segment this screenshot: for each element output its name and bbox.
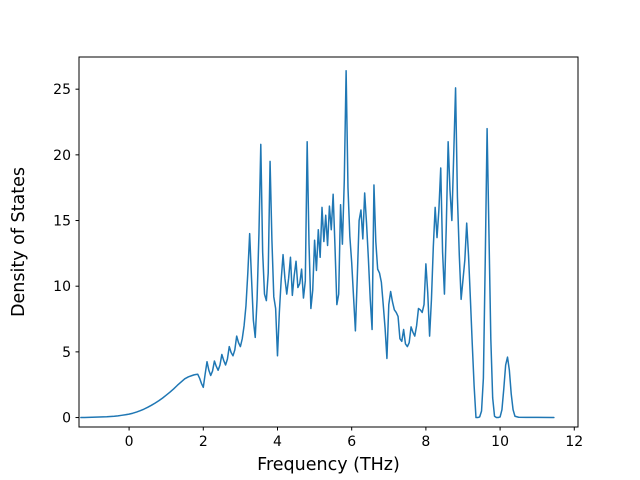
y-tick-label: 20 <box>53 148 71 164</box>
axes-background <box>79 57 578 427</box>
x-tick-label: 6 <box>347 434 356 450</box>
x-tick-label: 10 <box>491 434 509 450</box>
dos-plot: 024681012 0510152025 Frequency (THz) Den… <box>0 0 640 480</box>
y-tick-label: 0 <box>62 411 71 427</box>
y-tick-label: 10 <box>53 279 71 295</box>
matplotlib-figure: 024681012 0510152025 Frequency (THz) Den… <box>0 0 640 480</box>
x-axis-label: Frequency (THz) <box>257 455 400 475</box>
x-tick-label: 12 <box>565 434 583 450</box>
y-tick-label: 25 <box>53 82 71 98</box>
x-tick-label: 2 <box>199 434 208 450</box>
y-tick-label: 15 <box>53 214 71 230</box>
x-tick-label: 0 <box>125 434 134 450</box>
y-axis-label: Density of States <box>9 167 29 317</box>
y-tick-label: 5 <box>62 345 71 361</box>
x-tick-label: 8 <box>421 434 430 450</box>
x-tick-label: 4 <box>273 434 282 450</box>
